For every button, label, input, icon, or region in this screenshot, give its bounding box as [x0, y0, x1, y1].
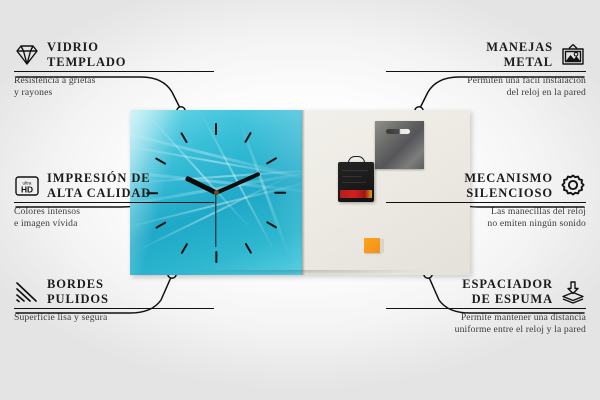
polished-edge-icon — [14, 279, 40, 305]
clock-tick — [180, 242, 188, 254]
panel-seam — [302, 110, 305, 275]
feature-block-mechanism: MECANISMO SILENCIOSO Las manecillas del … — [386, 171, 586, 229]
hanging-frame-icon — [560, 42, 586, 68]
feature-rule — [386, 71, 586, 72]
feature-heading: BORDES PULIDOS — [14, 277, 214, 306]
feature-heading: MECANISMO SILENCIOSO — [386, 171, 586, 200]
battery — [340, 190, 372, 198]
feature-description: Permite mantener una distancia uniforme … — [386, 312, 586, 335]
feature-rule — [14, 202, 214, 203]
feature-title: BORDES PULIDOS — [47, 277, 109, 306]
infographic-canvas: VIDRIO TEMPLADO Resistencia a grietas y … — [0, 0, 600, 400]
feature-title: MECANISMO SILENCIOSO — [464, 171, 553, 200]
clock-minute-hand — [215, 171, 260, 194]
clock-tick — [180, 131, 188, 143]
hanger-plate — [375, 121, 424, 169]
feature-heading: ESPACIADOR DE ESPUMA — [386, 277, 586, 306]
ultra-hd-icon: ultra HD — [14, 173, 40, 199]
gear-icon — [560, 173, 586, 199]
feature-rule — [386, 308, 586, 309]
clock-tick — [266, 220, 278, 228]
feature-heading: VIDRIO TEMPLADO — [14, 40, 214, 69]
clock-tick — [244, 242, 252, 254]
feature-description: Superficie lisa y segura — [14, 312, 214, 324]
feature-block-edges: BORDES PULIDOS Superficie lisa y segura — [14, 277, 214, 324]
foam-spacer — [364, 238, 380, 253]
clock-tick — [215, 251, 217, 263]
clock-tick — [155, 156, 167, 164]
feature-title: ESPACIADOR DE ESPUMA — [462, 277, 553, 306]
diamond-icon — [14, 42, 40, 68]
feature-title: IMPRESIÓN DE ALTA CALIDAD — [47, 171, 151, 200]
feature-rule — [386, 202, 586, 203]
clock-tick — [244, 131, 252, 143]
feature-heading: MANEJAS METAL — [386, 40, 586, 69]
svg-text:HD: HD — [21, 184, 33, 194]
feature-description: Colores intensos e imagen vívida — [14, 206, 214, 229]
feature-rule — [14, 71, 214, 72]
clock-tick — [274, 191, 286, 193]
feature-block-foam: ESPACIADOR DE ESPUMA Permite mantener un… — [386, 277, 586, 335]
feature-block-glass: VIDRIO TEMPLADO Resistencia a grietas y … — [14, 40, 214, 98]
feature-title: VIDRIO TEMPLADO — [47, 40, 126, 69]
feature-description: Las manecillas del reloj no emiten ningú… — [386, 206, 586, 229]
feature-rule — [14, 308, 214, 309]
clock-center-cap — [214, 190, 219, 195]
mechanism-hanger-loop — [348, 156, 365, 166]
feature-title: MANEJAS METAL — [486, 40, 553, 69]
hanger-slot — [386, 129, 410, 134]
quartz-mechanism — [338, 162, 374, 202]
clock-second-hand — [215, 193, 216, 247]
clock-tick — [215, 123, 217, 135]
feature-block-hooks: MANEJAS METAL Permiten una fácil instala… — [386, 40, 586, 98]
feature-description: Permiten una fácil instalación del reloj… — [386, 75, 586, 98]
clock-tick — [266, 156, 278, 164]
feature-description: Resistencia a grietas y rayones — [14, 75, 214, 98]
feature-heading: ultra HD IMPRESIÓN DE ALTA CALIDAD — [14, 171, 214, 200]
feature-block-print: ultra HD IMPRESIÓN DE ALTA CALIDAD Color… — [14, 171, 214, 229]
foam-spacer-edge — [380, 239, 384, 253]
foam-layers-arrow-icon — [560, 279, 586, 305]
